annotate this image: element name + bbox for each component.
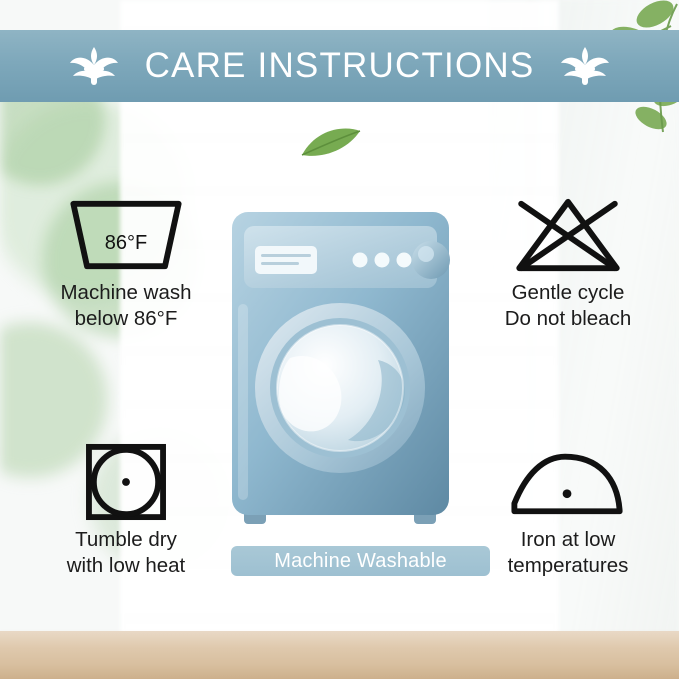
crossed-triangle-icon (508, 196, 628, 274)
symbol-iron-low: Iron at low temperatures (468, 443, 668, 579)
symbol-label-tumble-dry: Tumble dry with low heat (26, 527, 226, 579)
symbol-tumble-dry: Tumble dry with low heat (26, 443, 226, 579)
machine-washable-label: Machine Washable (274, 550, 447, 573)
symbol-do-not-bleach: Gentle cycle Do not bleach (468, 196, 668, 332)
leaf-icon (300, 125, 362, 161)
banner: CARE INSTRUCTIONS (0, 30, 679, 102)
symbol-label-machine-wash: Machine wash below 86°F (26, 280, 226, 332)
machine-washable-badge: Machine Washable (231, 546, 490, 576)
symbol-machine-wash: 86°F Machine wash below 86°F (26, 196, 226, 332)
symbol-label-iron-low: Iron at low temperatures (468, 527, 668, 579)
care-instructions-graphic: CARE INSTRUCTIONS (0, 0, 679, 679)
fleur-de-lis-icon (65, 43, 123, 89)
wash-temperature-label: 86°F (26, 232, 226, 255)
banner-title: CARE INSTRUCTIONS (145, 46, 535, 86)
iron-icon (503, 443, 633, 521)
tumble-dry-square-icon (66, 443, 186, 521)
washing-machine-icon (228, 208, 453, 538)
wooden-table-surface (0, 631, 679, 679)
symbol-label-do-not-bleach: Gentle cycle Do not bleach (468, 280, 668, 332)
fleur-de-lis-icon (556, 43, 614, 89)
